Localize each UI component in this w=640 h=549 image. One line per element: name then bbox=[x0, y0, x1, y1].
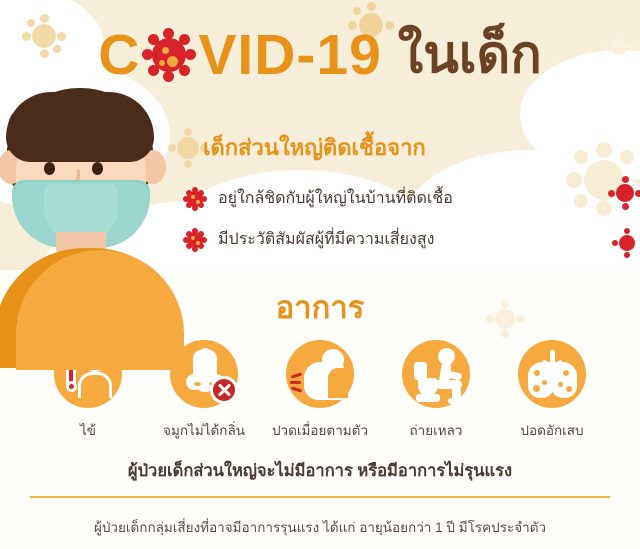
lungs-pneumonia-icon bbox=[518, 340, 586, 408]
title-letter-c: C bbox=[98, 27, 140, 84]
decorative-virus-icon bbox=[608, 176, 640, 210]
symptom-item-pneumonia: ปอดอักเสบ bbox=[507, 340, 597, 450]
close-icon bbox=[210, 376, 238, 404]
footer-sub-note: ผู้ป่วยเด็กกลุ่มเสี่ยงที่อาจมีอาการรุนแร… bbox=[0, 516, 640, 538]
decorative-virus-icon bbox=[612, 228, 640, 258]
list-item: มีประวัติสัมผัสผู้ที่มีความเสี่ยงสูง bbox=[183, 227, 453, 252]
diarrhea-toilet-icon bbox=[402, 340, 470, 408]
masked-boy-illustration bbox=[0, 88, 194, 273]
symptom-item-diarrhea: ถ่ายเหลว bbox=[391, 340, 481, 450]
symptom-item-body-ache: ปวดเมื่อยตามตัว bbox=[275, 340, 365, 450]
list-item: อยู่ใกล้ชิดกับผู้ใหญ่ในบ้านที่ติดเชื้อ bbox=[183, 186, 453, 211]
list-item-label: มีประวัติสัมผัสผู้ที่มีความเสี่ยงสูง bbox=[218, 227, 434, 252]
title-covid-text: C VID-19 bbox=[98, 27, 382, 84]
footer-main-note: ผู้ป่วยเด็กส่วนใหญ่จะไม่มีอาการ หรือมีอา… bbox=[0, 458, 640, 484]
coronavirus-bullet-icon bbox=[183, 228, 207, 252]
symptom-label: ปวดเมื่อยตามตัว bbox=[272, 419, 368, 441]
eye-left bbox=[44, 162, 55, 175]
transmission-list: อยู่ใกล้ชิดกับผู้ใหญ่ในบ้านที่ติดเชื้อ ม… bbox=[183, 186, 453, 268]
symptom-label: ไข้ bbox=[80, 419, 96, 441]
coronavirus-icon bbox=[143, 29, 195, 81]
eyebrow-right bbox=[86, 150, 110, 158]
symptom-label: ปอดอักเสบ bbox=[520, 419, 583, 441]
eye-right bbox=[92, 162, 103, 175]
infographic-page: C VID-19 ในเด็ก bbox=[0, 0, 640, 549]
title-thai-text: ในเด็ก bbox=[398, 29, 542, 81]
divider bbox=[30, 496, 610, 498]
eyebrow-left bbox=[38, 150, 62, 158]
list-item-label: อยู่ใกล้ชิดกับผู้ใหญ่ในบ้านที่ติดเชื้อ bbox=[218, 186, 453, 211]
symptom-label: จมูกไม่ได้กลิ่น bbox=[163, 419, 245, 441]
page-title: C VID-19 ในเด็ก bbox=[0, 22, 640, 88]
transmission-heading: เด็กส่วนใหญ่ติดเชื้อจาก bbox=[203, 130, 426, 165]
body-ache-icon bbox=[286, 340, 354, 408]
symptom-label: ถ่ายเหลว bbox=[409, 419, 462, 441]
coronavirus-bullet-icon bbox=[183, 187, 207, 211]
title-covid-rest: VID-19 bbox=[198, 27, 381, 84]
